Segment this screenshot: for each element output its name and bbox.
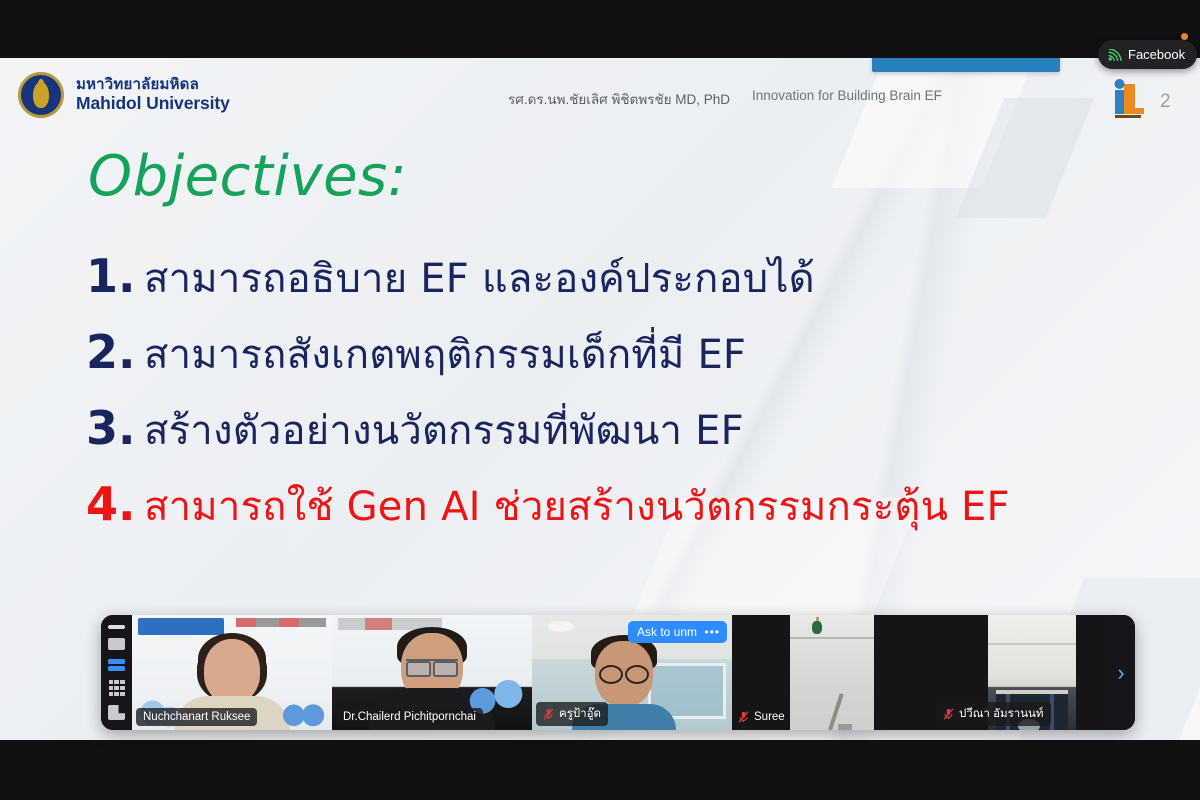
- objective-text: สามารถสังเกตพฤติกรรมเด็กที่มี EF: [144, 322, 746, 386]
- participant-name: Dr.Chailerd Pichitpornchai: [343, 711, 476, 723]
- objective-number: 4.: [86, 477, 138, 531]
- muted-microphone-icon: [738, 711, 749, 723]
- brand-name-th: มหาวิทยาลัยมหิดล: [76, 77, 230, 94]
- objective-number: 3.: [86, 401, 138, 455]
- participant-tile[interactable]: Nuchchanart Ruksee: [132, 615, 332, 730]
- participant-tile[interactable]: Ask to unmute ••• ครูป้าอู๊ด: [532, 615, 732, 730]
- objective-item: 3. สร้างตัวอย่างนวัตกรรมที่พัฒนา EF: [86, 398, 1156, 462]
- participant-tile[interactable]: ปวีณา อัมรานนท์: [932, 615, 1132, 730]
- tile-more-options-button[interactable]: •••: [697, 621, 727, 643]
- objective-text: สร้างตัวอย่างนวัตกรรมที่พัฒนา EF: [144, 398, 744, 462]
- slide-title: Objectives:: [88, 144, 407, 209]
- institute-logo-icon: [1108, 76, 1148, 120]
- mahidol-seal-icon: [18, 72, 64, 118]
- participant-tile[interactable]: Dr.Chailerd Pichitpornchai: [332, 615, 532, 730]
- muted-microphone-icon: [543, 708, 554, 720]
- participant-name-tag: Nuchchanart Ruksee: [136, 708, 257, 726]
- sidebar-view-icon[interactable]: [108, 705, 125, 720]
- streaming-platform-label: Facebook: [1128, 47, 1185, 62]
- session-title: Innovation for Building Brain EF: [752, 88, 942, 103]
- gallery-view-icon[interactable]: [109, 680, 125, 696]
- slide-header: มหาวิทยาลัยมหิดล Mahidol University รศ.ด…: [0, 58, 1200, 140]
- broadcast-wifi-icon: [1108, 49, 1122, 61]
- recording-status-dot: [1181, 33, 1188, 40]
- layout-switcher[interactable]: [101, 615, 132, 730]
- participant-name: ปวีณา อัมรานนท์: [959, 705, 1044, 723]
- objective-number: 1.: [86, 249, 138, 303]
- objective-text: สามารถอธิบาย EF และองค์ประกอบได้: [144, 246, 815, 310]
- objective-item: 4. สามารถใช้ Gen AI ช่วยสร้างนวัตกรรมกระ…: [86, 474, 1156, 538]
- next-participants-button[interactable]: ›: [1107, 615, 1135, 730]
- screen-capture: มหาวิทยาลัยมหิดล Mahidol University รศ.ด…: [0, 0, 1200, 800]
- participant-filmstrip: Nuchchanart Ruksee Dr.Chailerd Pichitpor…: [101, 615, 1135, 730]
- participant-name: Nuchchanart Ruksee: [143, 711, 250, 723]
- objective-number: 2.: [86, 325, 138, 379]
- brand-name-en: Mahidol University: [76, 94, 230, 114]
- participant-name-tag: Suree: [736, 708, 787, 726]
- participant-name: ครูป้าอู๊ด: [559, 705, 601, 723]
- objective-item: 2. สามารถสังเกตพฤติกรรมเด็กที่มี EF: [86, 322, 1156, 386]
- speaker-name: รศ.ดร.นพ.ชัยเลิศ พิชิตพรชัย MD, PhD: [508, 88, 730, 110]
- objective-item: 1. สามารถอธิบาย EF และองค์ประกอบได้: [86, 246, 1156, 310]
- participant-tile[interactable]: Suree: [732, 615, 932, 730]
- muted-microphone-icon: [943, 708, 954, 720]
- objective-text: สามารถใช้ Gen AI ช่วยสร้างนวัตกรรมกระตุ้…: [144, 474, 1010, 538]
- streaming-platform-badge[interactable]: Facebook: [1098, 40, 1197, 69]
- participant-name-tag: ครูป้าอู๊ด: [536, 702, 608, 726]
- brand-lockup: มหาวิทยาลัยมหิดล Mahidol University: [18, 72, 230, 118]
- objectives-list: 1. สามารถอธิบาย EF และองค์ประกอบได้ 2. ส…: [86, 246, 1156, 550]
- speaker-view-icon[interactable]: [108, 638, 125, 650]
- participant-name-tag: ปวีณา อัมรานนท์: [936, 702, 1051, 726]
- participant-name: Suree: [754, 711, 785, 723]
- stacked-view-icon[interactable]: [108, 659, 125, 671]
- minimize-icon[interactable]: [108, 625, 125, 629]
- brand-text: มหาวิทยาลัยมหิดล Mahidol University: [76, 77, 230, 113]
- participant-name-tag: Dr.Chailerd Pichitpornchai: [336, 708, 483, 726]
- slide-page-number: 2: [1160, 91, 1171, 113]
